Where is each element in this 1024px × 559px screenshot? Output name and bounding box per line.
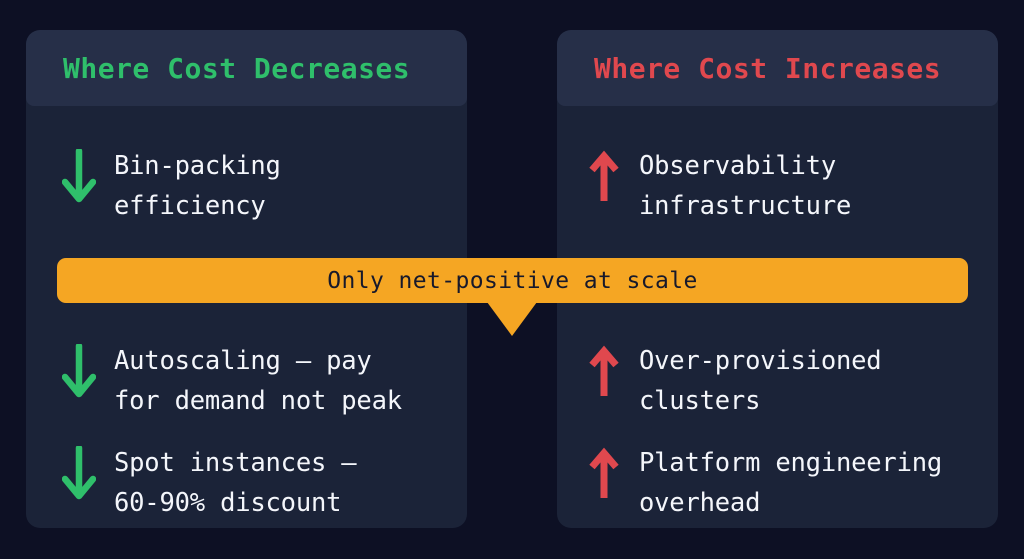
panel-header-increases: Where Cost Increases — [557, 30, 998, 106]
increase-item-list: Observability infrastructure Over-provis… — [557, 106, 998, 528]
list-item-label: Platform engineering overhead — [639, 443, 942, 523]
list-item: Autoscaling — pay for demand not peak — [62, 341, 462, 421]
list-item: Over-provisioned clusters — [587, 341, 997, 421]
panel-title-increases: Where Cost Increases — [557, 52, 941, 85]
panel-header-decreases: Where Cost Decreases — [26, 30, 467, 106]
triangle-down-pointer-icon — [487, 302, 537, 336]
net-positive-banner-label: Only net-positive at scale — [327, 268, 697, 294]
list-item-label: Observability infrastructure — [639, 146, 851, 226]
list-item-label: Over-provisioned clusters — [639, 341, 881, 421]
arrow-up-icon — [587, 149, 621, 207]
net-positive-banner: Only net-positive at scale — [57, 258, 968, 303]
arrow-down-icon — [62, 149, 96, 207]
arrow-down-icon — [62, 344, 96, 402]
list-item: Bin-packing efficiency — [62, 146, 462, 226]
list-item: Platform engineering overhead — [587, 443, 997, 523]
decrease-item-list: Bin-packing efficiency Autoscaling — pay… — [26, 106, 467, 528]
arrow-down-icon — [62, 446, 96, 504]
list-item-label: Autoscaling — pay for demand not peak — [114, 341, 402, 421]
list-item-label: Bin-packing efficiency — [114, 146, 281, 226]
list-item-label: Spot instances — 60-90% discount — [114, 443, 356, 523]
arrow-up-icon — [587, 446, 621, 504]
list-item: Spot instances — 60-90% discount — [62, 443, 462, 523]
arrow-up-icon — [587, 344, 621, 402]
infographic-canvas: Where Cost Decreases Bin-packing efficie… — [0, 0, 1024, 559]
list-item: Observability infrastructure — [587, 146, 997, 226]
panel-title-decreases: Where Cost Decreases — [26, 52, 410, 85]
